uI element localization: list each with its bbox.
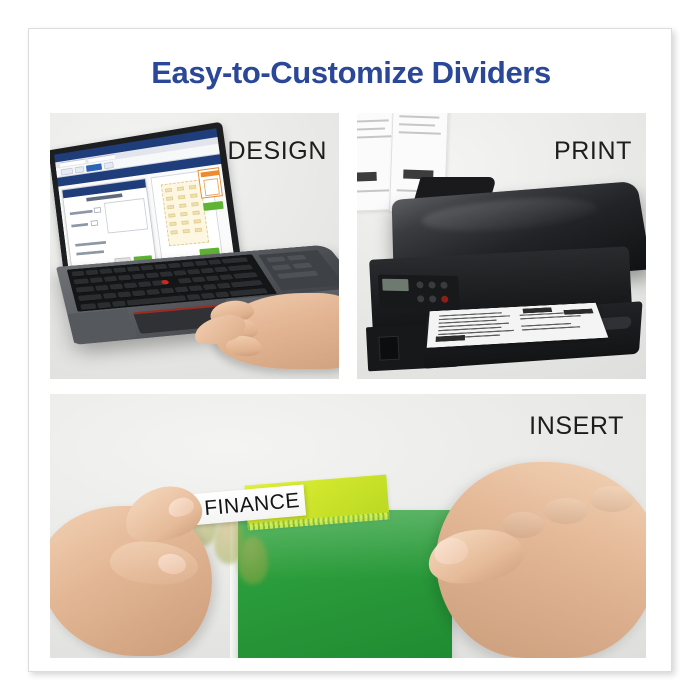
form-label: [71, 223, 88, 227]
label-preview-thumbnail: [197, 167, 222, 198]
hand-typing-on-laptop: [182, 287, 339, 379]
left-hand-holding-label: [50, 480, 230, 658]
printer-button[interactable]: [440, 282, 447, 289]
feature-card: Easy-to-Customize Dividers: [28, 28, 672, 672]
printer-button[interactable]: [429, 295, 436, 302]
sheet-tab-mark: [563, 309, 593, 315]
panel-label-insert: INSERT: [529, 412, 624, 441]
panel-print[interactable]: PRINT: [357, 113, 646, 379]
printer-button[interactable]: [428, 281, 435, 288]
printer-lcd-display: [382, 279, 409, 291]
form-option: [76, 250, 104, 255]
thumbnail-frame: [203, 178, 220, 196]
panel-insert[interactable]: FINANCE: [50, 394, 646, 658]
panel-label-design: DESIGN: [228, 137, 327, 166]
form-input: [91, 220, 99, 226]
ribbon-button: [75, 166, 85, 173]
form-label: [70, 210, 93, 215]
screen-action-button[interactable]: [203, 201, 224, 211]
form-input: [94, 207, 102, 213]
printer-power-button[interactable]: [441, 296, 448, 303]
form-option: [75, 241, 106, 247]
dialog-preview-box: [104, 198, 148, 233]
printer-button[interactable]: [416, 281, 423, 288]
printer-card-slot: [378, 336, 399, 361]
product-feature-graphic: Easy-to-Customize Dividers: [0, 0, 700, 700]
panel-design[interactable]: DESIGN: [50, 113, 339, 379]
printer-button[interactable]: [417, 295, 424, 302]
panel-label-print: PRINT: [554, 137, 632, 166]
thumbnail-header: [200, 170, 219, 177]
sheet-tab-mark: [436, 335, 465, 342]
page-title: Easy-to-Customize Dividers: [29, 55, 673, 91]
printer-control-panel[interactable]: [378, 275, 460, 310]
right-hand-holding-divider: [422, 446, 646, 658]
lid-highlight: [422, 193, 599, 236]
palmrest-left: [67, 309, 137, 344]
panel-grid: DESIGN: [50, 113, 646, 658]
